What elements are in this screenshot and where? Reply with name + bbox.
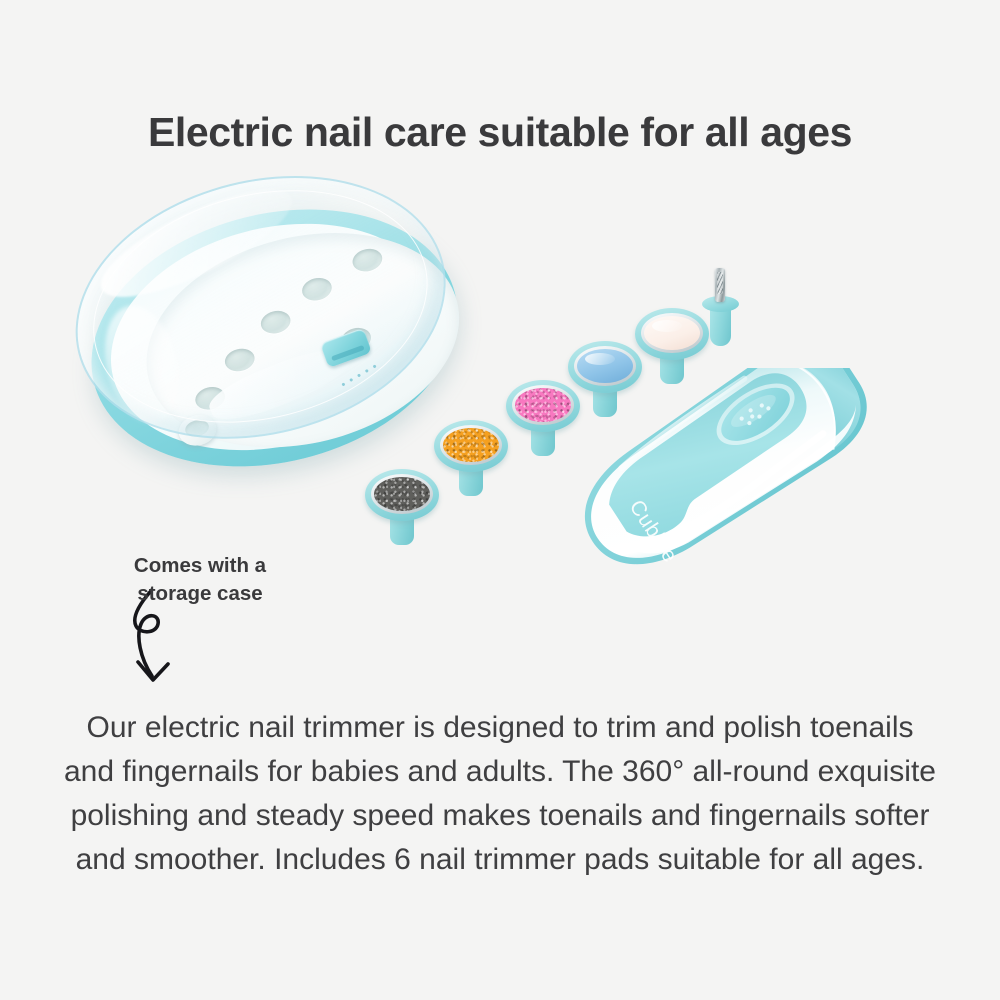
grey-grit-pad[interactable] bbox=[363, 463, 441, 549]
callout-text: Comes with a storage case bbox=[60, 552, 340, 609]
pad-metal-ring bbox=[641, 313, 703, 353]
product-feature-image: Electric nail care suitable for all ages bbox=[0, 0, 1000, 1000]
metal-bit[interactable] bbox=[700, 268, 740, 348]
pad-surface bbox=[374, 477, 430, 511]
callout-line-2: storage case bbox=[60, 580, 340, 608]
storage-case-lid[interactable] bbox=[48, 139, 474, 476]
pad-surface bbox=[443, 428, 499, 462]
electric-nail-trimmer-handle[interactable]: Cubble bbox=[548, 368, 908, 618]
pad-head bbox=[434, 420, 508, 472]
callout-line-1: Comes with a bbox=[60, 552, 340, 580]
pad-head bbox=[365, 469, 439, 521]
body-copy: Our electric nail trimmer is designed to… bbox=[58, 706, 942, 882]
handle-body bbox=[548, 368, 908, 618]
bit-metal-tip bbox=[715, 268, 725, 302]
orange-pad[interactable] bbox=[432, 414, 510, 500]
pad-metal-ring bbox=[440, 425, 502, 465]
pad-head bbox=[635, 308, 709, 360]
pad-metal-ring bbox=[371, 474, 433, 514]
pad-surface bbox=[644, 316, 700, 350]
